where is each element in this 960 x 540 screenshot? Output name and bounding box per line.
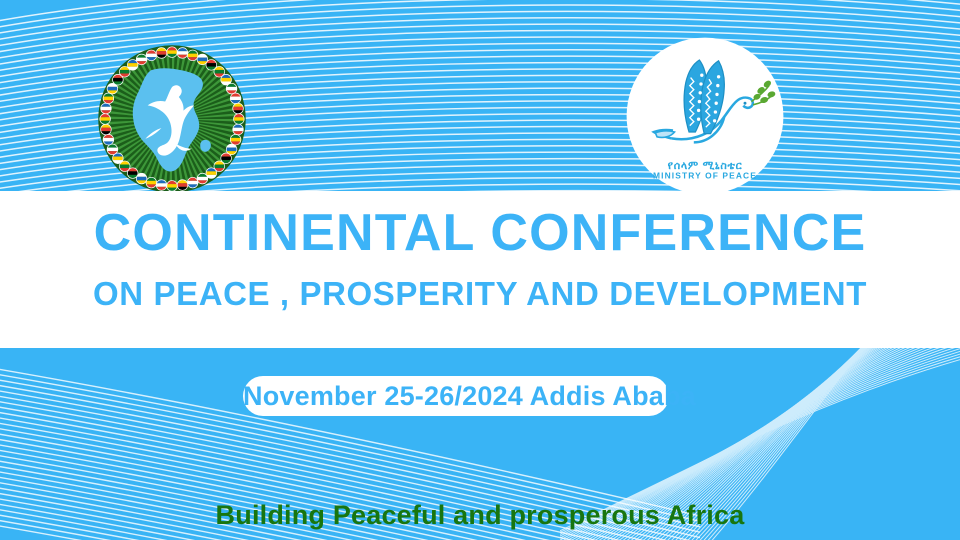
tagline: Building Peaceful and prosperous Africa [0,500,960,531]
ministry-of-peace-logo: የሰላም ሚኒስቴር MINISTRY OF PEACE [625,36,785,196]
date-location-text: November 25-26/2024 Addis Ababa [243,376,669,416]
page-title: CONTINENTAL CONFERENCE [22,207,938,259]
title-band: CONTINENTAL CONFERENCE ON PEACE , PROSPE… [0,191,960,348]
african-union-emblem [96,43,248,195]
logo-english-label: MINISTRY OF PEACE [653,170,757,180]
page-subtitle: ON PEACE , PROSPERITY AND DEVELOPMENT [22,277,938,310]
conference-poster: የሰላም ሚኒስቴር MINISTRY OF PEACE CONTINENTAL… [0,0,960,540]
